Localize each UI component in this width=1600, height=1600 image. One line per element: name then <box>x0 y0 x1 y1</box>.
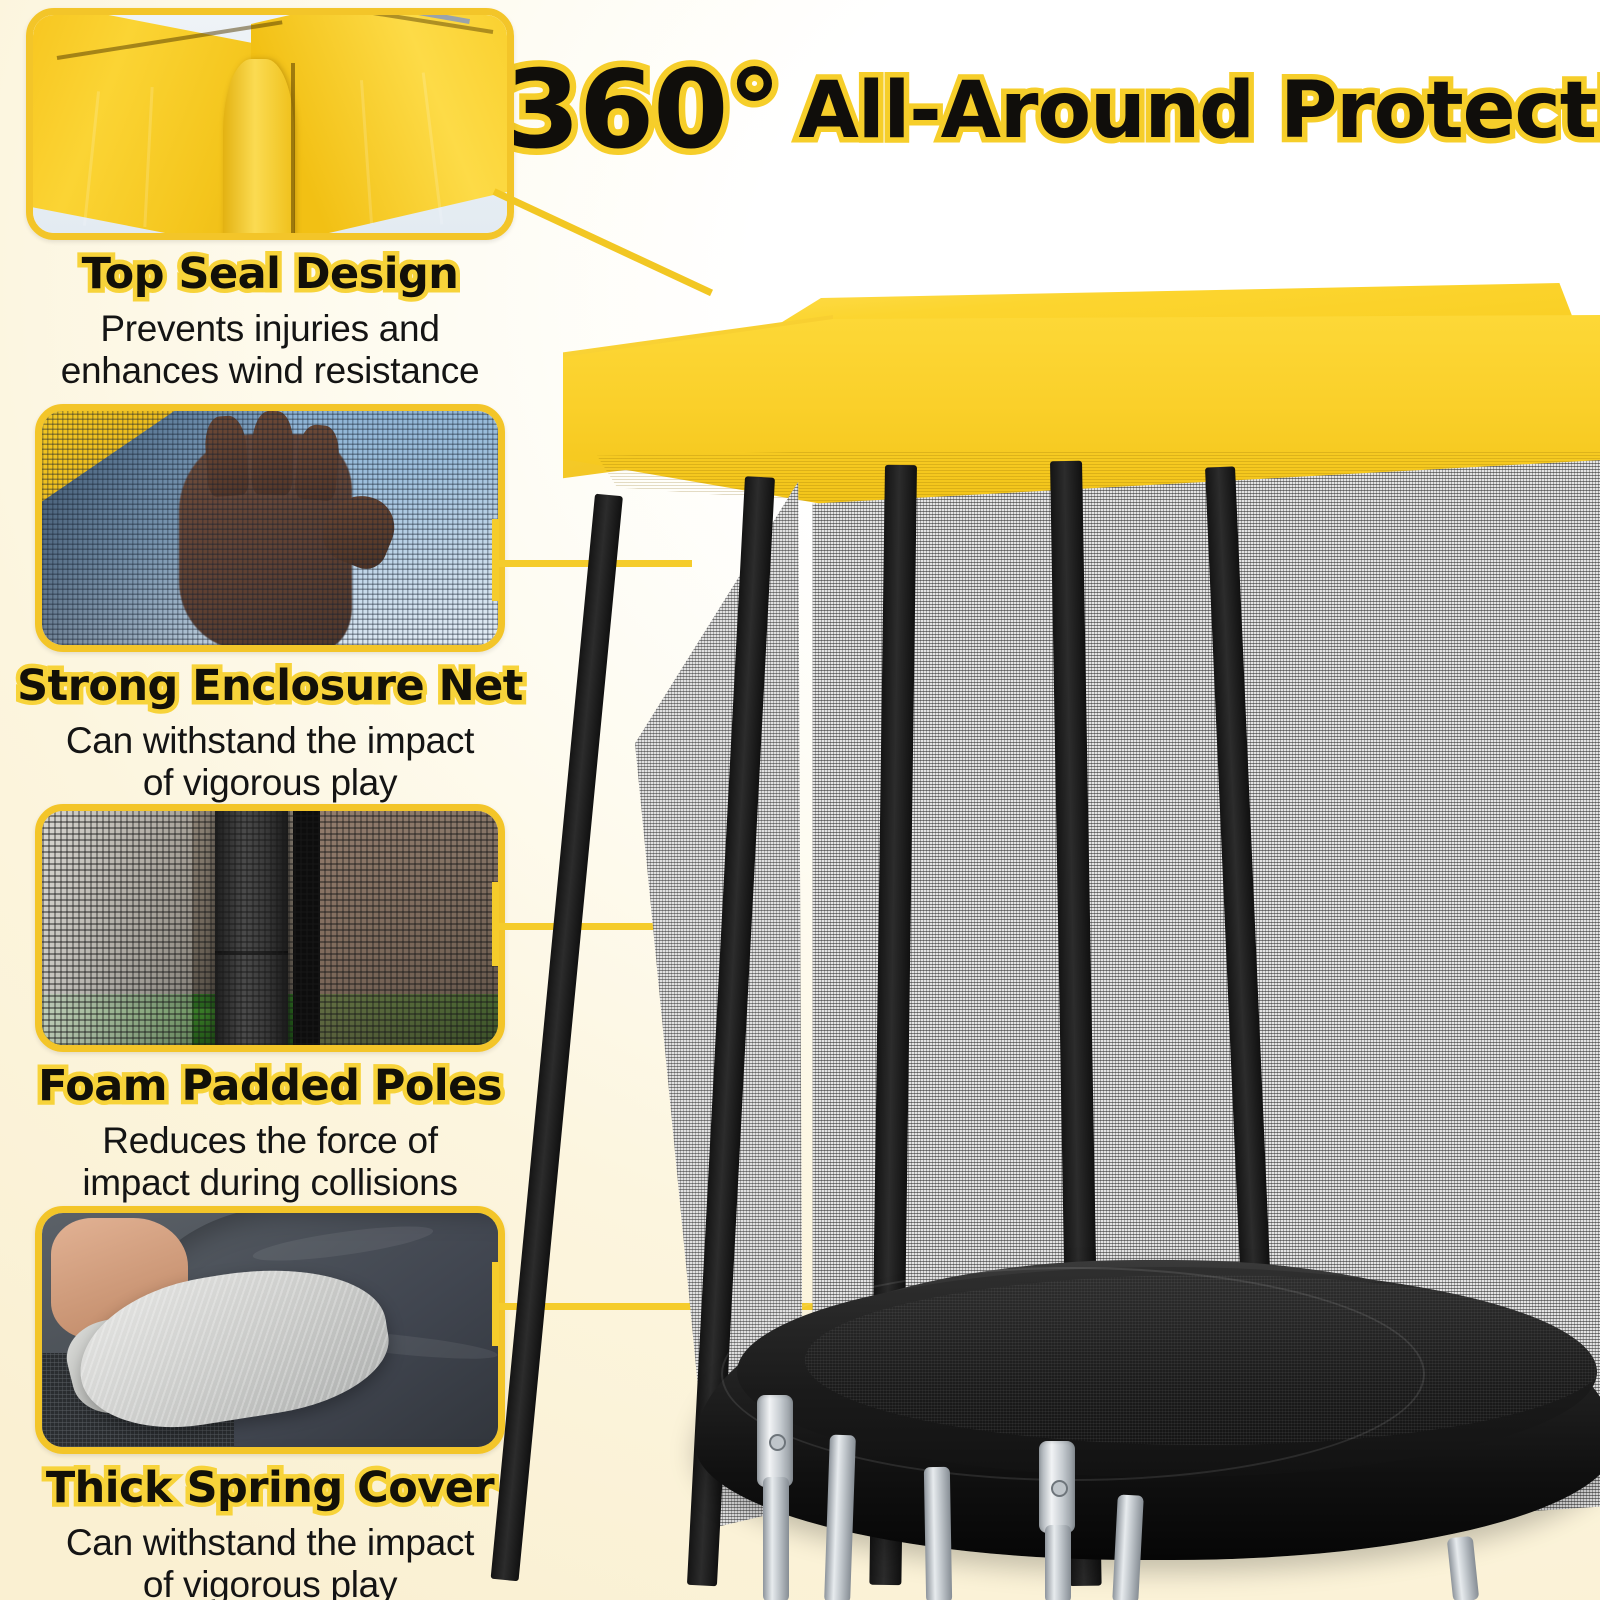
feature-thick-spring-cover: Thick Spring Cover Can withstand the imp… <box>0 1206 540 1600</box>
feature-top-seal-design: Top Seal Design Prevents injuries and en… <box>0 8 540 393</box>
trampoline-leg-4 <box>924 1467 952 1600</box>
thumbnail-top-seal <box>26 8 514 240</box>
connector-elbow-spring-cover <box>492 1262 499 1346</box>
connector-elbow-enclosure-net <box>492 519 499 601</box>
feature-desc-line2: impact during collisions <box>0 1162 540 1205</box>
leg-connector-1 <box>757 1395 793 1487</box>
trampoline-leg-1 <box>763 1477 789 1600</box>
infographic-canvas: 360° All-Around Protection Top Seal Desi… <box>0 0 1600 1600</box>
screw-icon <box>769 1434 786 1451</box>
trampoline-leg-5 <box>1112 1494 1144 1600</box>
trampoline-leg-2 <box>1045 1525 1071 1600</box>
headline-text: All-Around Protection <box>798 72 1600 150</box>
trampoline-leg-6 <box>1447 1536 1480 1600</box>
feature-desc-line1: Reduces the force of <box>0 1120 540 1163</box>
headline: 360° All-Around Protection <box>505 46 1595 176</box>
product-illustration <box>545 255 1600 1600</box>
leg-connector-2 <box>1039 1441 1075 1533</box>
feature-title: Top Seal Design <box>0 252 540 298</box>
feature-title: Thick Spring Cover <box>0 1466 540 1512</box>
feature-desc-line1: Can withstand the impact <box>0 1522 540 1565</box>
feature-desc-line1: Can withstand the impact <box>0 720 540 763</box>
thumbnail-enclosure-net <box>35 404 505 652</box>
trampoline-leg-3 <box>824 1435 856 1600</box>
feature-desc-line1: Prevents injuries and <box>0 308 540 351</box>
thumbnail-foam-pole <box>35 804 505 1052</box>
headline-degrees: 360° <box>505 57 780 165</box>
feature-desc-line2: enhances wind resistance <box>0 350 540 393</box>
feature-desc-line2: of vigorous play <box>0 762 540 805</box>
feature-strong-enclosure-net: Strong Enclosure Net Can withstand the i… <box>0 404 540 805</box>
feature-foam-padded-poles: Foam Padded Poles Reduces the force of i… <box>0 804 540 1205</box>
thumbnail-spring-cover <box>35 1206 505 1454</box>
feature-title: Strong Enclosure Net <box>0 664 540 710</box>
feature-title: Foam Padded Poles <box>0 1064 540 1110</box>
screw-icon <box>1051 1480 1068 1497</box>
feature-desc-line2: of vigorous play <box>0 1564 540 1600</box>
connector-elbow-foam-poles <box>492 882 499 966</box>
